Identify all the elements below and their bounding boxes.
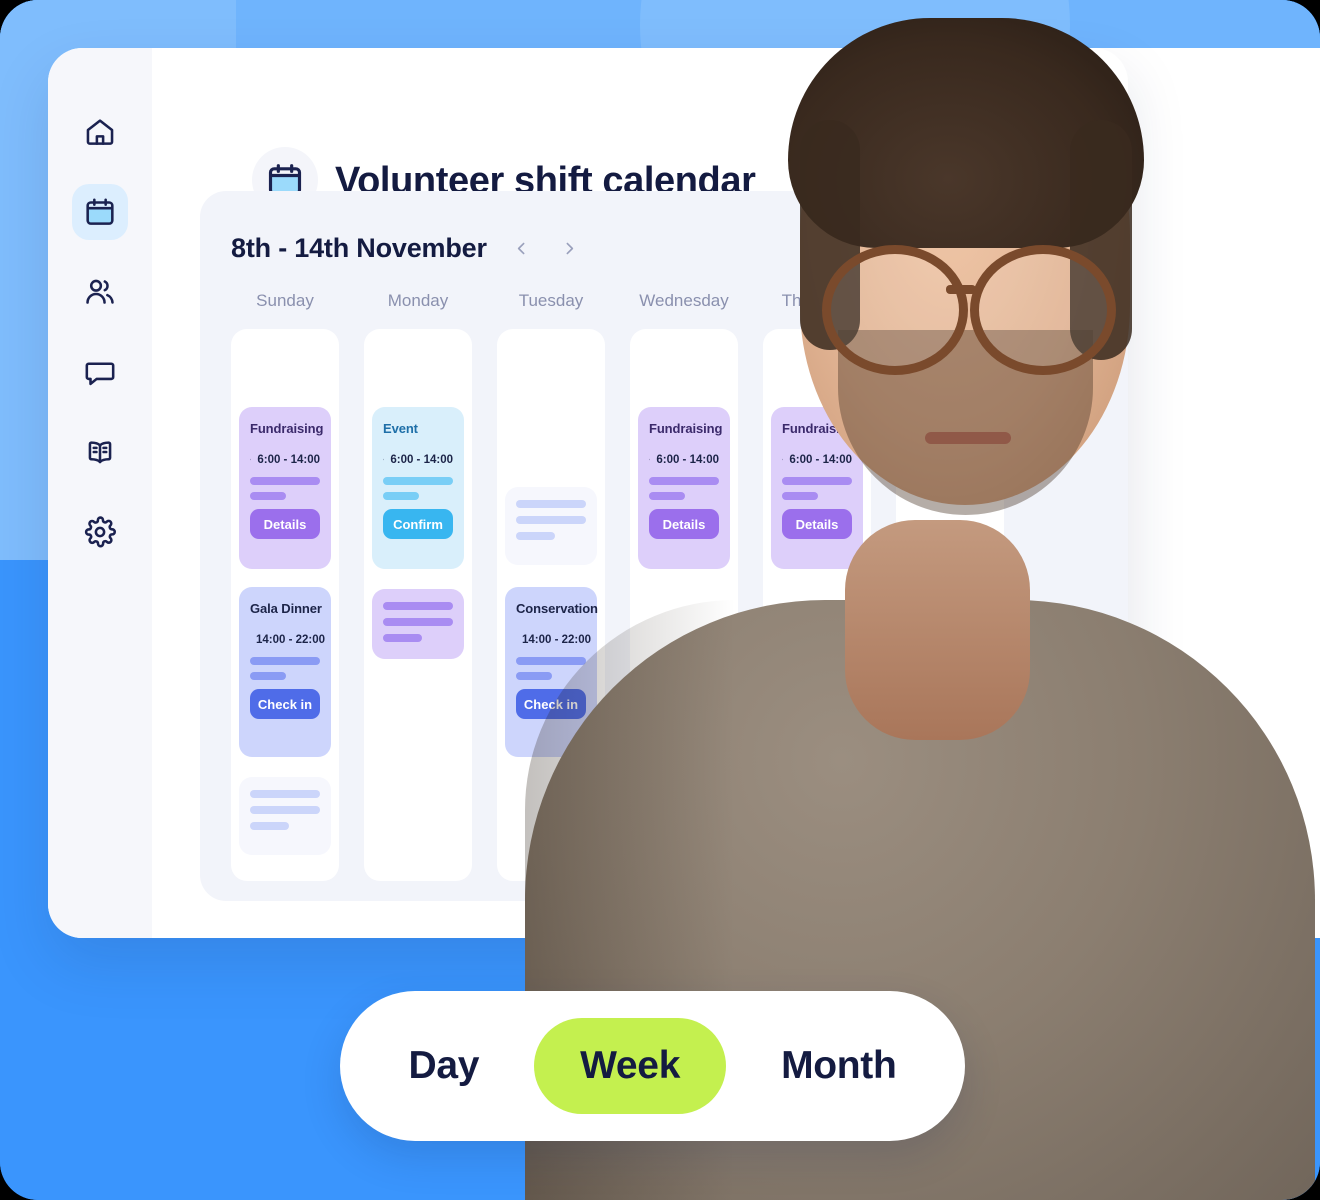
placeholder-bar [383,634,422,642]
day-column: MondayEvent6:00 - 14:00Confirm [364,291,472,881]
placeholder-card [239,777,331,855]
calendar-icon [83,195,117,229]
day-name-label: Sunday [256,291,314,311]
event-card[interactable]: Fundraising6:00 - 14:00Details [239,407,331,569]
event-action-button[interactable]: Details [250,509,320,539]
home-icon [83,115,117,149]
detail-bar [383,477,453,485]
placeholder-bar [250,806,320,814]
book-icon [83,435,117,469]
event-time: 6:00 - 14:00 [383,453,453,466]
event-detail-bars [383,477,453,500]
gear-icon [83,515,117,549]
detail-bar [250,477,320,485]
sidebar-item-messages[interactable] [72,344,128,400]
view-toggle[interactable]: DayWeekMonth [340,991,965,1141]
mouth [925,432,1011,444]
event-action-button[interactable]: Confirm [383,509,453,539]
event-title: Event [383,421,453,436]
event-time: 14:00 - 22:00 [250,633,320,646]
event-time-label: 6:00 - 14:00 [390,454,453,466]
app-frame: Volunteer shift calendar 8th - 14th Nove… [0,0,1320,1200]
sidebar-item-resources[interactable] [72,424,128,480]
event-detail-bars [250,477,320,500]
users-icon [83,275,117,309]
event-title: Fundraising [250,421,320,436]
event-time-label: 6:00 - 14:00 [257,454,320,466]
sidebar-item-settings[interactable] [72,504,128,560]
event-time-label: 14:00 - 22:00 [256,634,325,646]
placeholder-bar [250,790,320,798]
day-column-body: Fundraising6:00 - 14:00DetailsGala Dinne… [231,329,339,881]
placeholder-bar [250,822,289,830]
date-range-label: 8th - 14th November [231,233,487,264]
detail-bar [250,492,286,500]
placeholder-card [372,589,464,659]
eyeglasses-bridge [946,285,976,294]
sidebar [48,48,152,938]
clock-icon [250,453,251,466]
event-detail-bars [250,657,320,680]
eyeglasses-right-lens [970,245,1116,375]
eyeglasses-left-lens [822,245,968,375]
placeholder-bar [383,618,453,626]
event-time: 6:00 - 14:00 [250,453,320,466]
view-toggle-option-month[interactable]: Month [735,1018,942,1114]
neck [845,520,1030,740]
event-card[interactable]: Gala Dinner14:00 - 22:00Check in [239,587,331,757]
event-card[interactable]: Event6:00 - 14:00Confirm [372,407,464,569]
event-title: Gala Dinner [250,601,320,616]
sidebar-item-calendar[interactable] [72,184,128,240]
day-column: SundayFundraising6:00 - 14:00DetailsGala… [231,291,339,881]
view-toggle-option-week[interactable]: Week [534,1018,726,1114]
chat-icon [83,355,117,389]
detail-bar [383,492,419,500]
sidebar-item-volunteers[interactable] [72,264,128,320]
day-name-label: Monday [388,291,448,311]
day-column-body: Event6:00 - 14:00Confirm [364,329,472,881]
clock-icon [383,453,384,466]
detail-bar [250,657,320,665]
placeholder-bar [383,602,453,610]
detail-bar [250,672,286,680]
view-toggle-option-day[interactable]: Day [362,1018,525,1114]
sidebar-item-home[interactable] [72,104,128,160]
event-action-button[interactable]: Check in [250,689,320,719]
